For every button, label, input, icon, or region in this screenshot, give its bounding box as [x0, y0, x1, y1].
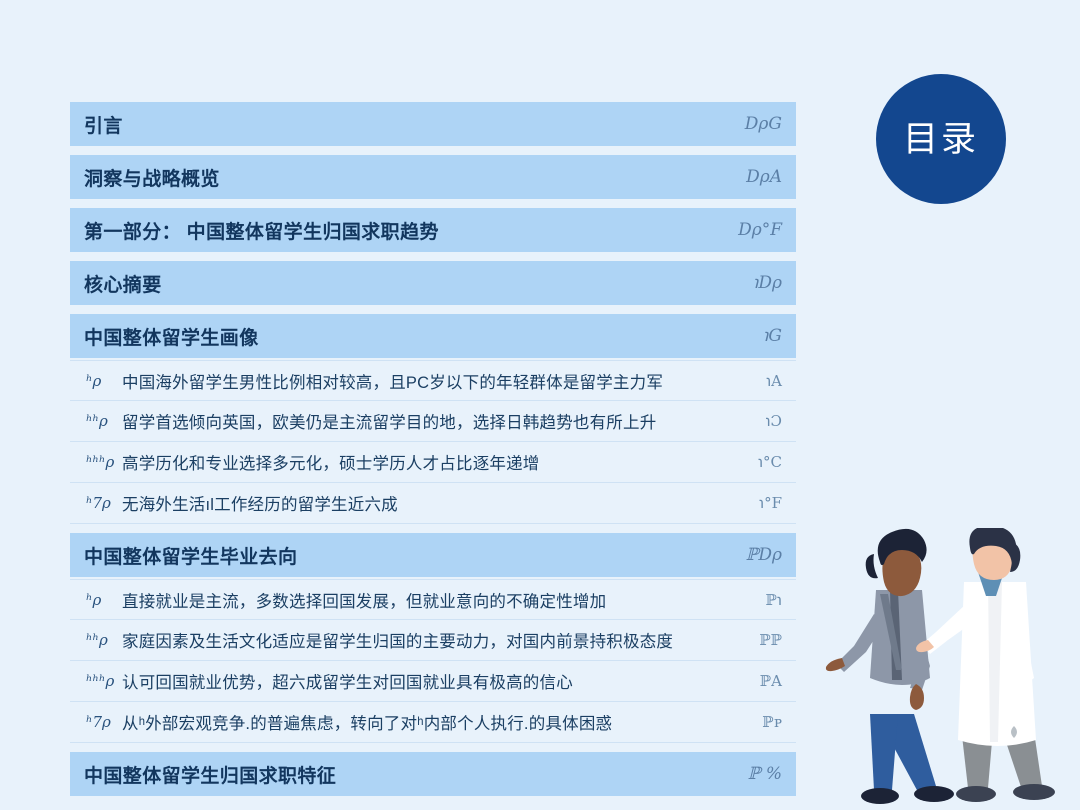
- toc-subitem-page-number: ℙℙ: [742, 631, 782, 649]
- toc-subitem-bullet-icon: ʰ7ρ: [86, 713, 122, 731]
- toc-section-row[interactable]: 中国整体留学生画像℩G: [70, 314, 796, 358]
- toc-subitem-block: ʰρ中国海外留学生男性比例相对较高，且PC岁以下的年轻群体是留学主力军℩Aʰʰρ…: [70, 358, 796, 524]
- toc-group: 洞察与战略概览DρA: [70, 155, 796, 199]
- toc-section-page-number: ℙ %: [738, 764, 782, 784]
- toc-subitem-bullet-icon: ʰʰʰρ: [86, 453, 122, 471]
- toc-section-label: 引言: [84, 111, 123, 138]
- toc-group: 中国整体留学生毕业去向ℙDρʰρ直接就业是主流，多数选择回国发展，但就业意向的不…: [70, 533, 796, 743]
- toc-subitem-page-number: ℙᴘ: [742, 713, 782, 731]
- toc-subitem-label: 高学历化和专业选择多元化，硕士学历人才占比逐年递增: [122, 450, 540, 474]
- toc-section-row[interactable]: 中国整体留学生毕业去向ℙDρ: [70, 533, 796, 577]
- toc-subitem-label: 从ʰ外部宏观竞争.的普遍焦虑，转向了对ʰ内部个人执行.的具体困惑: [122, 710, 612, 734]
- toc-section-label: 中国整体留学生毕业去向: [84, 542, 297, 569]
- toc-subitem-row[interactable]: ʰ7ρ从ʰ外部宏观竞争.的普遍焦虑，转向了对ʰ内部个人执行.的具体困惑ℙᴘ: [70, 702, 796, 743]
- toc-subitem-row[interactable]: ʰʰρ家庭因素及生活文化适应是留学生归国的主要动力，对国内前景持积极态度ℙℙ: [70, 620, 796, 661]
- toc-section-page-number: DρG: [738, 114, 782, 134]
- toc-subitem-row[interactable]: ʰρ中国海外留学生男性比例相对较高，且PC岁以下的年轻群体是留学主力军℩A: [70, 360, 796, 401]
- toc-section-page-number: ℩G: [738, 326, 782, 346]
- toc-subitem-block: ʰρ直接就业是主流，多数选择回国发展，但就业意向的不确定性增加ℙ℩ʰʰρ家庭因素…: [70, 577, 796, 743]
- toc-group: 中国整体留学生归国求职特征ℙ %: [70, 752, 796, 796]
- toc-subitem-page-number: ℩°F: [742, 494, 782, 512]
- toc-subitem-label: 家庭因素及生活文化适应是留学生归国的主要动力，对国内前景持积极态度: [122, 628, 673, 652]
- toc-subitem-bullet-icon: ʰʰρ: [86, 631, 122, 649]
- toc-subitem-page-number: ℩Ɔ: [742, 412, 782, 430]
- toc-subitem-row[interactable]: ʰρ直接就业是主流，多数选择回国发展，但就业意向的不确定性增加ℙ℩: [70, 579, 796, 620]
- toc-section-row[interactable]: 洞察与战略概览DρA: [70, 155, 796, 199]
- toc-subitem-label: 认可回国就业优势，超六成留学生对回国就业具有极高的信心: [122, 669, 573, 693]
- two-people-walking-illustration: [818, 528, 1080, 810]
- toc-subitem-page-number: ℙA: [742, 672, 782, 690]
- toc-section-label: 第一部分： 中国整体留学生归国求职趋势: [84, 217, 439, 244]
- toc-section-label: 中国整体留学生归国求职特征: [84, 761, 336, 788]
- toc-subitem-bullet-icon: ʰʰρ: [86, 412, 122, 430]
- toc-subitem-bullet-icon: ʰρ: [86, 591, 122, 609]
- toc-section-label: 核心摘要: [84, 270, 162, 297]
- toc-section-label: 中国整体留学生画像: [84, 323, 259, 350]
- toc-subitem-bullet-icon: ʰʰʰρ: [86, 672, 122, 690]
- toc-section-row[interactable]: 核心摘要℩Dρ: [70, 261, 796, 305]
- toc-section-label: 洞察与战略概览: [84, 164, 220, 191]
- toc-subitem-label: 中国海外留学生男性比例相对较高，且PC岁以下的年轻群体是留学主力军: [122, 369, 663, 393]
- toc-subitem-label: 无海外生活ıl工作经历的留学生近六成: [122, 491, 398, 515]
- toc-group: 核心摘要℩Dρ: [70, 261, 796, 305]
- toc-section-page-number: ℩Dρ: [738, 273, 782, 293]
- toc-subitem-row[interactable]: ʰʰʰρ高学历化和专业选择多元化，硕士学历人才占比逐年递增℩°C: [70, 442, 796, 483]
- toc-slide: 目录 引言DρG洞察与战略概览DρA第一部分： 中国整体留学生归国求职趋势Dρ°…: [0, 0, 1080, 810]
- toc-section-row[interactable]: 引言DρG: [70, 102, 796, 146]
- toc-group: 第一部分： 中国整体留学生归国求职趋势Dρ°F: [70, 208, 796, 252]
- toc-section-page-number: DρA: [738, 167, 782, 187]
- toc-group: 引言DρG: [70, 102, 796, 146]
- toc-subitem-row[interactable]: ʰ7ρ无海外生活ıl工作经历的留学生近六成℩°F: [70, 483, 796, 524]
- toc-subitem-page-number: ℩°C: [742, 453, 782, 471]
- toc-section-page-number: Dρ°F: [738, 220, 782, 240]
- toc-subitem-bullet-icon: ʰρ: [86, 372, 122, 390]
- toc-group: 中国整体留学生画像℩Gʰρ中国海外留学生男性比例相对较高，且PC岁以下的年轻群体…: [70, 314, 796, 524]
- toc-subitem-page-number: ℩A: [742, 372, 782, 390]
- toc-section-page-number: ℙDρ: [738, 545, 782, 565]
- toc-subitem-bullet-icon: ʰ7ρ: [86, 494, 122, 512]
- toc-subitem-row[interactable]: ʰʰʰρ认可回国就业优势，超六成留学生对回国就业具有极高的信心ℙA: [70, 661, 796, 702]
- toc-section-row[interactable]: 第一部分： 中国整体留学生归国求职趋势Dρ°F: [70, 208, 796, 252]
- toc-list: 引言DρG洞察与战略概览DρA第一部分： 中国整体留学生归国求职趋势Dρ°F核心…: [70, 102, 796, 805]
- toc-subitem-page-number: ℙ℩: [742, 591, 782, 609]
- toc-title-label: 目录: [903, 122, 979, 157]
- toc-subitem-label: 留学首选倾向英国，欧美仍是主流留学目的地，选择日韩趋势也有所上升: [122, 409, 656, 433]
- toc-subitem-row[interactable]: ʰʰρ留学首选倾向英国，欧美仍是主流留学目的地，选择日韩趋势也有所上升℩Ɔ: [70, 401, 796, 442]
- toc-subitem-label: 直接就业是主流，多数选择回国发展，但就业意向的不确定性增加: [122, 588, 606, 612]
- toc-section-row[interactable]: 中国整体留学生归国求职特征ℙ %: [70, 752, 796, 796]
- toc-title-badge: 目录: [876, 74, 1006, 204]
